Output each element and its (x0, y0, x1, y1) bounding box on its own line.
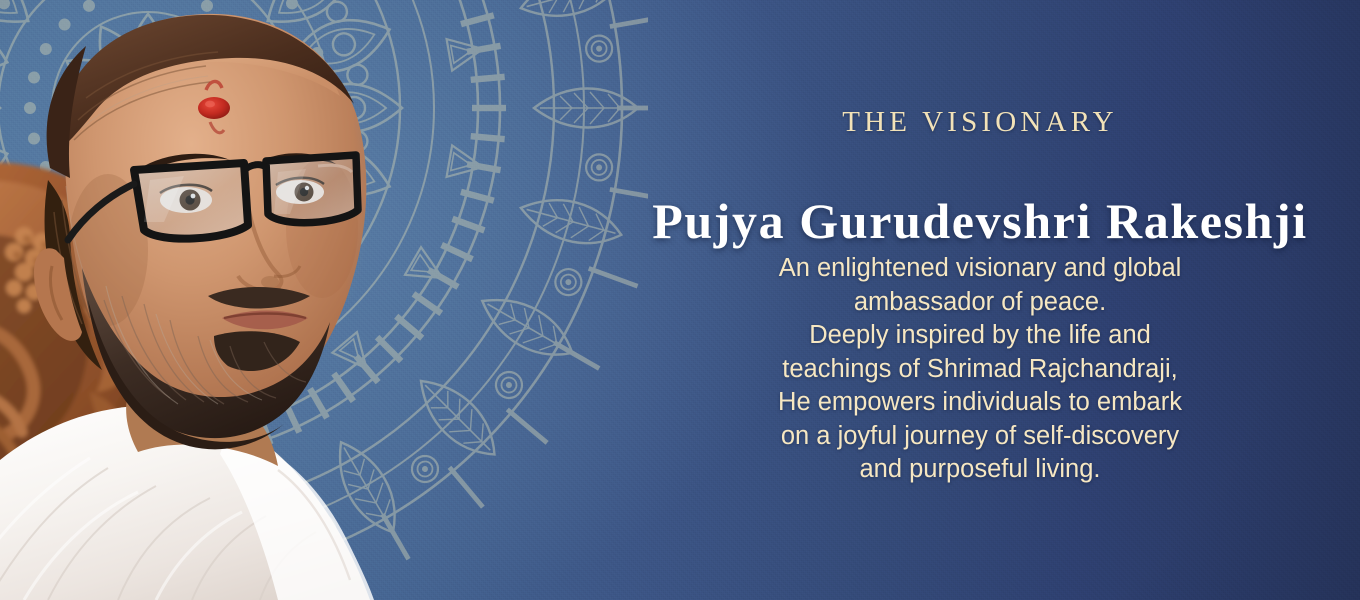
banner-text-column: THE VISIONARY Pujya Gurudevshri Rakeshji… (600, 0, 1360, 600)
description-paragraph: An enlightened visionary and global amba… (600, 252, 1360, 487)
visionary-banner: core (0, 0, 1360, 600)
description-line: and purposeful living. (600, 453, 1360, 487)
description-line: on a joyful journey of self-discovery (600, 420, 1360, 454)
eyebrow-label: THE VISIONARY (600, 106, 1360, 139)
description-line: ambassador of peace. (600, 286, 1360, 320)
description-line: An enlightened visionary and global (600, 252, 1360, 286)
guru-portrait-image (0, 0, 618, 600)
page-title: Pujya Gurudevshri Rakeshji (600, 192, 1360, 250)
description-line: He empowers individuals to embark (600, 386, 1360, 420)
description-line: Deeply inspired by the life and (600, 319, 1360, 353)
description-line: teachings of Shrimad Rajchandraji, (600, 353, 1360, 387)
